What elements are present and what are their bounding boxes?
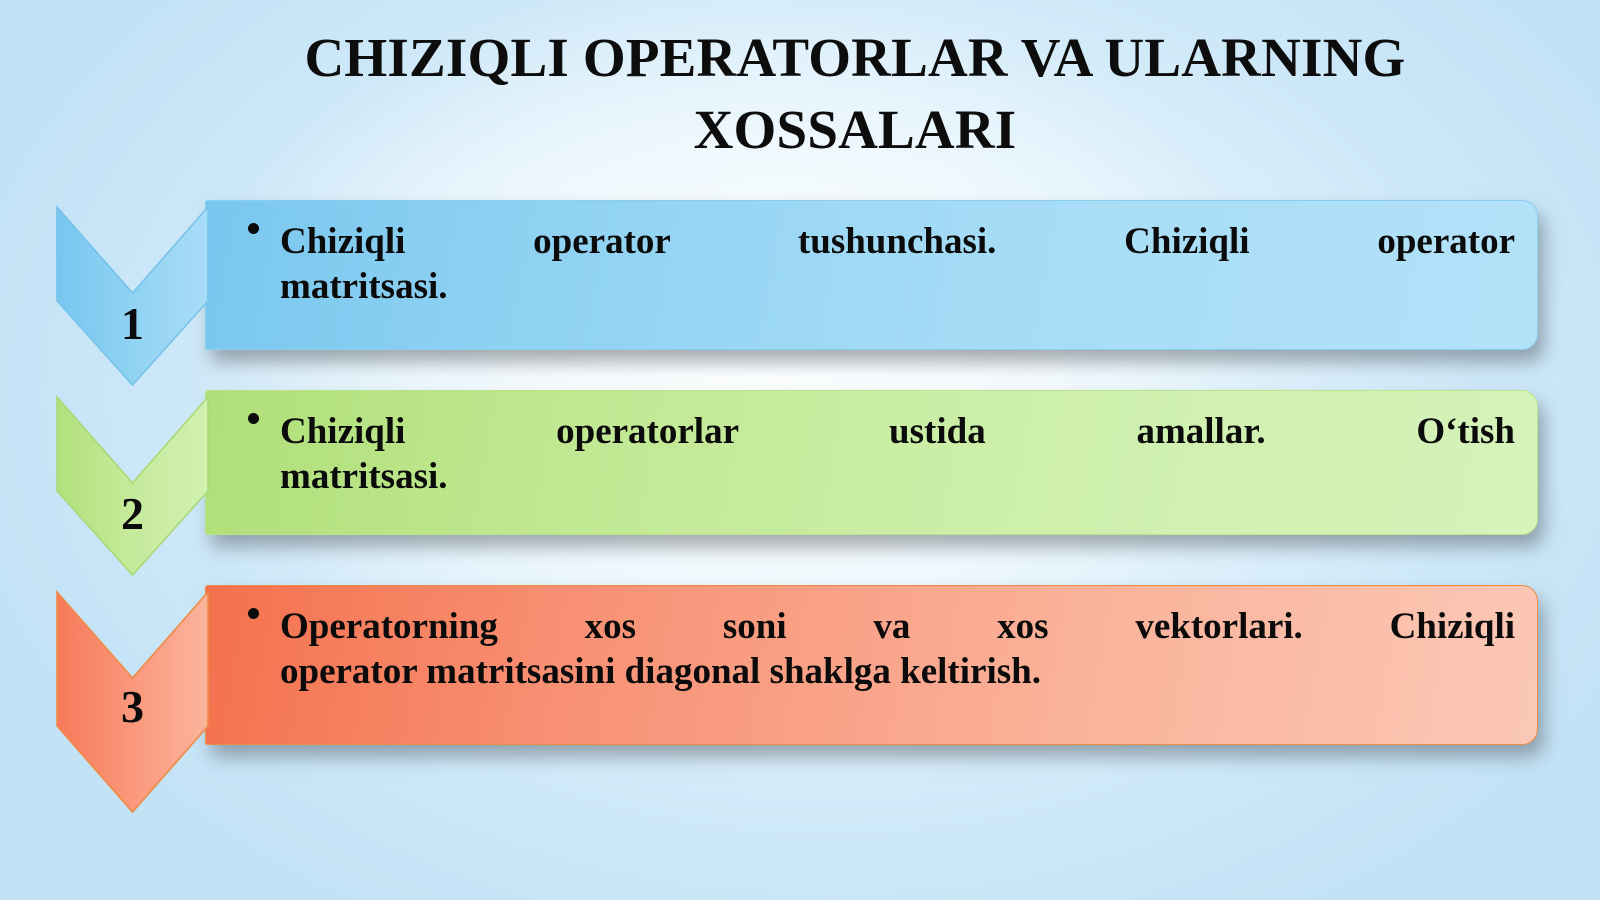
bullet-icon xyxy=(248,413,259,424)
agenda-text-1-line-1: Chiziqli operator tushunchasi. Chiziqli … xyxy=(280,219,1515,264)
bullet-icon xyxy=(248,608,259,619)
agenda-text-2-line-1: Chiziqli operatorlar ustida amallar. O‘t… xyxy=(280,409,1515,454)
agenda-banner-3[interactable]: Operatorning xos soni va xos vektorlari.… xyxy=(205,585,1538,745)
agenda-banner-1[interactable]: Chiziqli operator tushunchasi. Chiziqli … xyxy=(205,200,1538,350)
agenda-text-3: Operatorning xos soni va xos vektorlari.… xyxy=(234,604,1515,694)
agenda-text-3-line-2: operator matritsasini diagonal shaklga k… xyxy=(280,649,1515,694)
chevron-down-icon xyxy=(55,395,210,577)
slide-canvas: CHIZIQLI OPERATORLAR VA ULARNING XOSSALA… xyxy=(0,0,1600,900)
chevron-marker-1: 1 xyxy=(55,205,210,387)
agenda-text-2: Chiziqli operatorlar ustida amallar. O‘t… xyxy=(234,409,1515,499)
agenda-banner-2[interactable]: Chiziqli operatorlar ustida amallar. O‘t… xyxy=(205,390,1538,535)
agenda-text-3-line-1: Operatorning xos soni va xos vektorlari.… xyxy=(280,604,1515,649)
chevron-number-2: 2 xyxy=(55,487,210,540)
chevron-marker-2: 2 xyxy=(55,395,210,577)
bullet-icon xyxy=(248,223,259,234)
page-title: CHIZIQLI OPERATORLAR VA ULARNING XOSSALA… xyxy=(300,22,1410,165)
chevron-number-1: 1 xyxy=(55,297,210,350)
chevron-marker-3: 3 xyxy=(55,590,210,814)
chevron-down-icon xyxy=(55,205,210,387)
chevron-number-3: 3 xyxy=(55,680,210,733)
agenda-text-1: Chiziqli operator tushunchasi. Chiziqli … xyxy=(234,219,1515,309)
agenda-text-2-line-2: matritsasi. xyxy=(280,454,1515,499)
agenda-text-1-line-2: matritsasi. xyxy=(280,264,1515,309)
